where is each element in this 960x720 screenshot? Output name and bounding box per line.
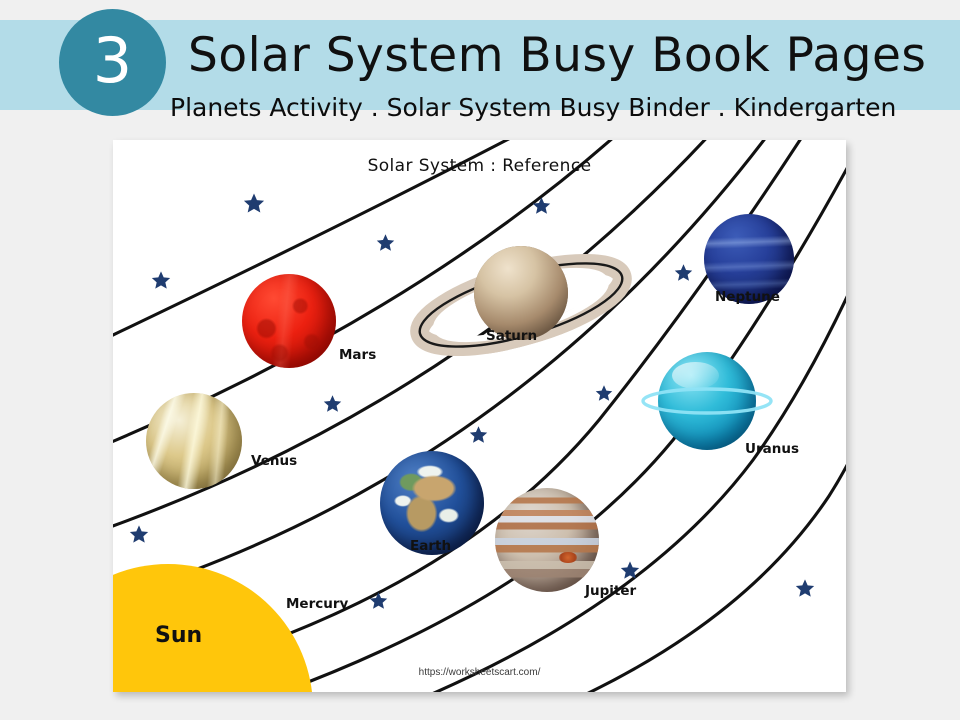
planet-label-uranus: Uranus [745,441,799,457]
planet-venus [146,393,242,489]
star-icon [674,263,693,282]
worksheet-card: Solar System : Reference Sun Mercury Ven… [113,140,846,692]
planet-label-saturn: Saturn [486,328,537,344]
watermark-url: https://worksheetscart.com/ [113,667,846,678]
worksheet-title: Solar System : Reference [113,156,846,176]
star-icon [369,591,388,610]
star-icon [469,425,488,444]
star-icon [795,578,815,598]
planet-label-mercury: Mercury [286,596,348,612]
star-icon [532,196,551,215]
planet-label-jupiter: Jupiter [585,583,636,599]
star-icon [323,394,342,413]
star-icon [595,384,613,402]
uranus-ring [640,383,774,419]
star-icon [129,524,149,544]
star-icon [243,192,265,214]
planet-jupiter [495,488,599,592]
planet-label-neptune: Neptune [715,289,780,305]
planet-mars [242,274,336,368]
planet-label-mars: Mars [339,347,376,363]
page-number-label: 3 [93,30,132,92]
planet-label-venus: Venus [251,453,297,469]
planet-saturn [410,227,632,369]
sun-label: Sun [155,623,202,648]
planet-label-earth: Earth [410,538,451,554]
star-icon [620,560,640,580]
page-subtitle: Planets Activity . Solar System Busy Bin… [170,93,896,123]
page-title: Solar System Busy Book Pages [188,26,926,86]
star-icon [151,270,171,290]
page-number-badge: 3 [59,9,166,116]
star-icon [376,233,395,252]
